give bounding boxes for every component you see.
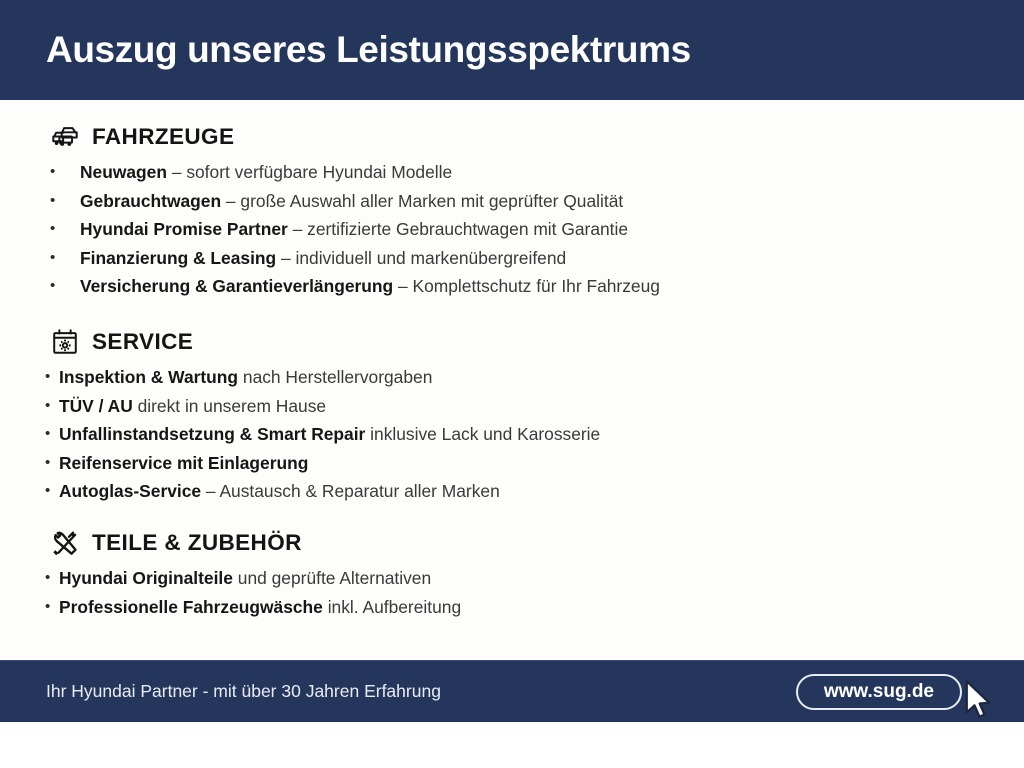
list-item: Reifenservice mit Einlagerung <box>44 449 984 478</box>
list-item-lead: Neuwagen <box>80 162 167 182</box>
header-band: Auszug unseres Leistungsspektrums <box>0 0 1024 100</box>
list-item-desc: inklusive Lack und Karosserie <box>365 424 600 444</box>
list-item: Versicherung & Garantieverlängerung – Ko… <box>44 272 984 301</box>
list-item: Autoglas-Service – Austausch & Reparatur… <box>44 477 984 506</box>
wrench-screwdriver-icon <box>50 528 80 558</box>
section-teile-zubehoer: TEILE & ZUBEHÖR Hyundai Originalteile un… <box>44 528 984 621</box>
section-header-teile-zubehoer: TEILE & ZUBEHÖR <box>50 528 984 558</box>
list-item: Neuwagen – sofort verfügbare Hyundai Mod… <box>44 158 984 187</box>
list-item-lead: Hyundai Promise Partner <box>80 219 288 239</box>
list-item: Unfallinstandsetzung & Smart Repair inkl… <box>44 420 984 449</box>
list-item-lead: Unfallinstandsetzung & Smart Repair <box>59 424 365 444</box>
section-title-service: SERVICE <box>92 329 193 355</box>
list-item-desc: – individuell und markenübergreifend <box>276 248 566 268</box>
bullet-list-fahrzeuge: Neuwagen – sofort verfügbare Hyundai Mod… <box>44 158 984 301</box>
list-item-lead: Hyundai Originalteile <box>59 568 233 588</box>
section-fahrzeuge: FAHRZEUGE Neuwagen – sofort verfügbare H… <box>44 122 984 301</box>
calendar-gear-icon <box>50 327 80 357</box>
list-item-lead: Inspektion & Wartung <box>59 367 238 387</box>
list-item-desc: nach Herstellervorgaben <box>238 367 432 387</box>
website-button[interactable]: www.sug.de <box>796 674 962 710</box>
list-item: Inspektion & Wartung nach Herstellervorg… <box>44 363 984 392</box>
section-gap <box>44 510 984 528</box>
list-item-lead: Versicherung & Garantieverlängerung <box>80 276 393 296</box>
list-item-desc: – Austausch & Reparatur aller Marken <box>201 481 500 501</box>
footer-tagline: Ihr Hyundai Partner - mit über 30 Jahren… <box>46 681 441 702</box>
list-item-lead: Reifenservice mit Einlagerung <box>59 453 308 473</box>
bullet-list-teile-zubehoer: Hyundai Originalteile und geprüfte Alter… <box>44 564 984 621</box>
section-title-teile-zubehoer: TEILE & ZUBEHÖR <box>92 530 302 556</box>
list-item: Professionelle Fahrzeugwäsche inkl. Aufb… <box>44 593 984 622</box>
list-item-desc: – Komplettschutz für Ihr Fahrzeug <box>393 276 660 296</box>
two-cars-icon <box>50 122 80 152</box>
list-item: Gebrauchtwagen – große Auswahl aller Mar… <box>44 187 984 216</box>
list-item-desc: – große Auswahl aller Marken mit geprüft… <box>221 191 623 211</box>
list-item-lead: Gebrauchtwagen <box>80 191 221 211</box>
section-service: SERVICE Inspektion & Wartung nach Herste… <box>44 327 984 506</box>
list-item: Hyundai Promise Partner – zertifizierte … <box>44 215 984 244</box>
bottom-spacer <box>0 722 1024 768</box>
section-title-fahrzeuge: FAHRZEUGE <box>92 124 234 150</box>
section-header-fahrzeuge: FAHRZEUGE <box>50 122 984 152</box>
list-item-lead: Finanzierung & Leasing <box>80 248 276 268</box>
list-item: Finanzierung & Leasing – individuell und… <box>44 244 984 273</box>
list-item-desc: – zertifizierte Gebrauchtwagen mit Garan… <box>288 219 628 239</box>
list-item: Hyundai Originalteile und geprüfte Alter… <box>44 564 984 593</box>
list-item-lead: Professionelle Fahrzeugwäsche <box>59 597 323 617</box>
list-item-desc: inkl. Aufbereitung <box>323 597 461 617</box>
list-item-desc: direkt in unserem Hause <box>133 396 326 416</box>
list-item: TÜV / AU direkt in unserem Hause <box>44 392 984 421</box>
list-item-desc: – sofort verfügbare Hyundai Modelle <box>167 162 452 182</box>
page-title: Auszug unseres Leistungsspektrums <box>0 29 691 71</box>
list-item-lead: TÜV / AU <box>59 396 133 416</box>
list-item-lead: Autoglas-Service <box>59 481 201 501</box>
section-gap <box>44 305 984 327</box>
footer-band: Ihr Hyundai Partner - mit über 30 Jahren… <box>0 660 1024 722</box>
section-header-service: SERVICE <box>50 327 984 357</box>
bullet-list-service: Inspektion & Wartung nach Herstellervorg… <box>44 363 984 506</box>
slide-page: Auszug unseres Leistungsspektrums <box>0 0 1024 768</box>
content-area: FAHRZEUGE Neuwagen – sofort verfügbare H… <box>0 100 1024 660</box>
list-item-desc: und geprüfte Alternativen <box>233 568 431 588</box>
